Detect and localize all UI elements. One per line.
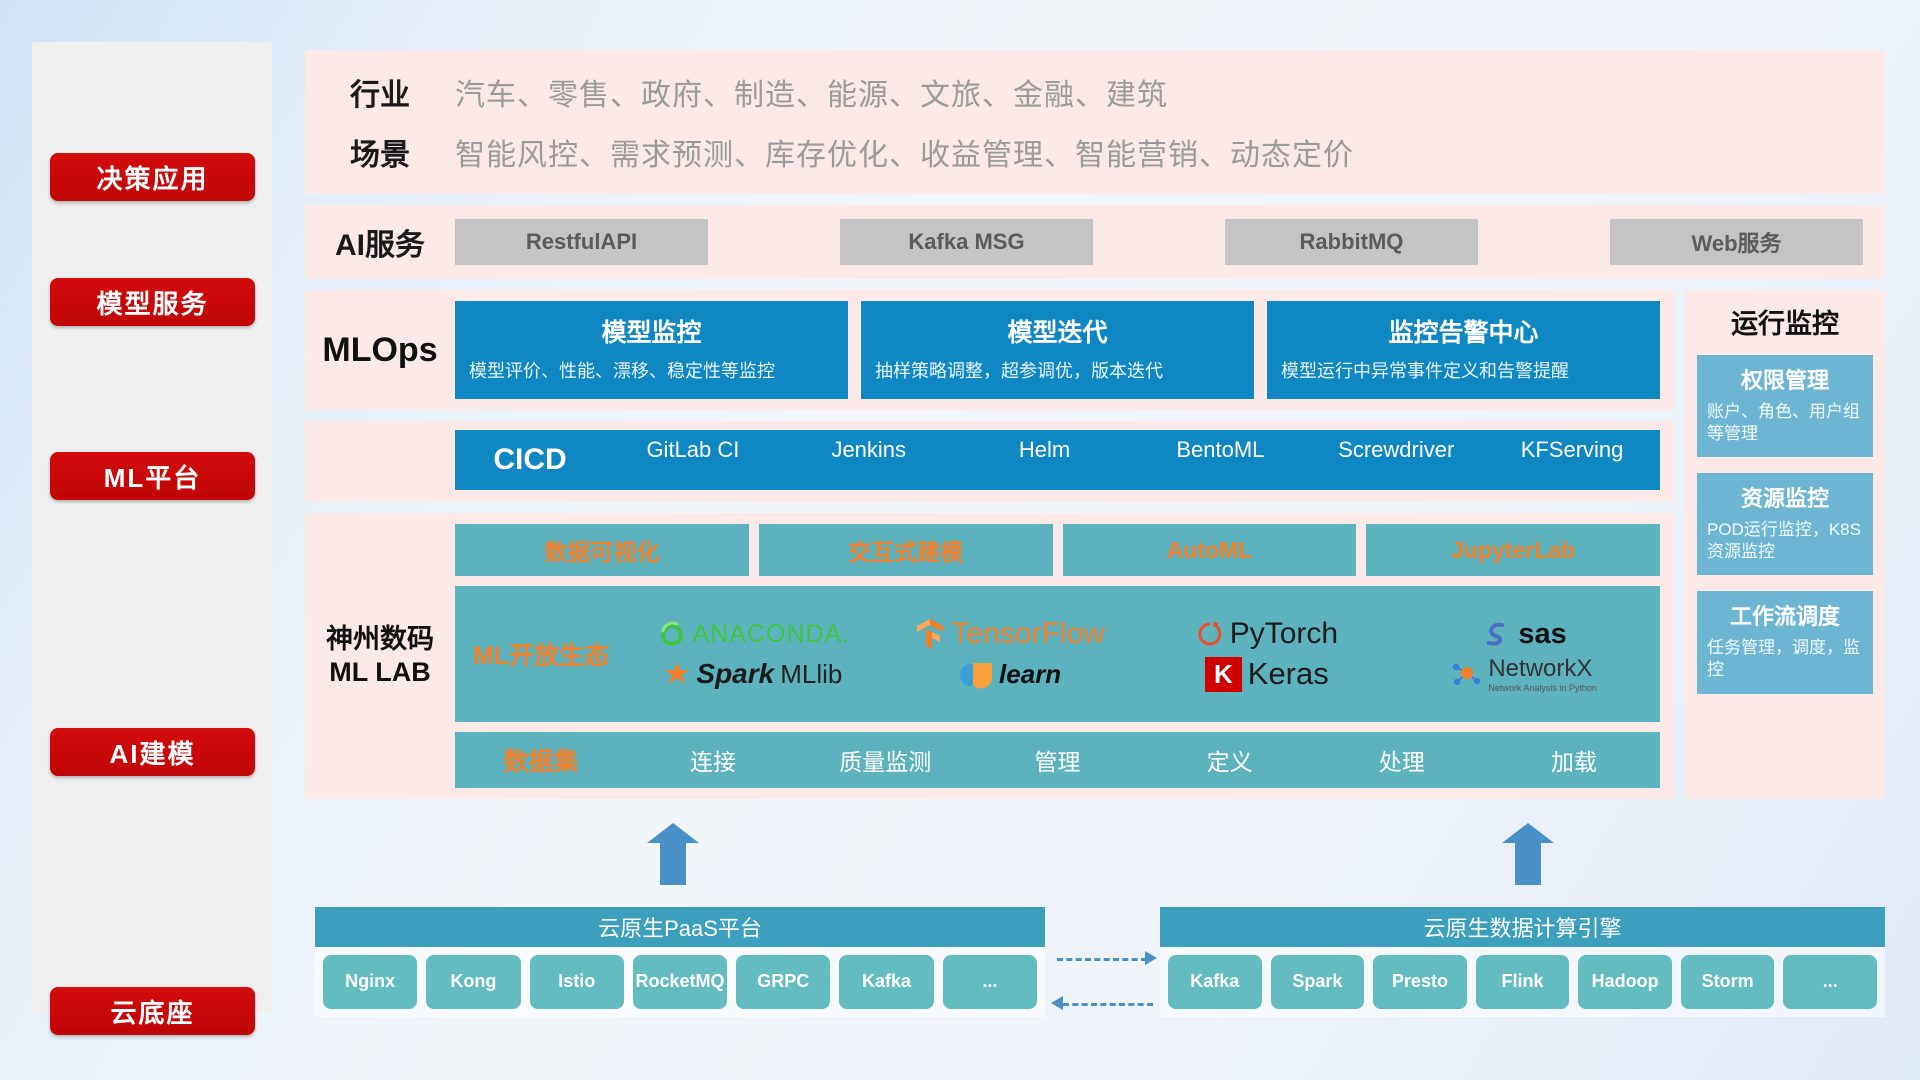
sas-logo: sas xyxy=(1480,618,1566,651)
networkx-logo: NetworkX Network Analysis in Python xyxy=(1450,655,1597,693)
industry-value: 汽车、零售、政府、制造、能源、文旅、金融、建筑 xyxy=(455,70,1168,114)
cicd-label: CICD xyxy=(455,443,605,477)
ml-lab-label-line2: ML LAB xyxy=(329,656,431,690)
card-title: 监控告警中心 xyxy=(1281,313,1646,349)
dashed-connector-back xyxy=(1063,1003,1153,1006)
logo-text: Spark xyxy=(696,658,774,690)
sas-mark xyxy=(1480,618,1512,650)
card-title: 资源监控 xyxy=(1707,481,1863,513)
cicd-item-gitlab-ci[interactable]: GitLab CI xyxy=(605,438,781,482)
dataset-item-process[interactable]: 处理 xyxy=(1316,743,1488,777)
rail-item-cloud-base[interactable]: 云底座 xyxy=(50,987,255,1035)
ml-lab-label: 神州数码 ML LAB xyxy=(305,524,455,788)
service-button-kafka-msg[interactable]: Kafka MSG xyxy=(840,219,1093,265)
logo-subtext: Network Analysis in Python xyxy=(1488,683,1597,693)
ml-lab-label-line1: 神州数码 xyxy=(326,623,434,657)
mlops-card-model-monitoring[interactable]: 模型监控 模型评价、性能、漂移、稳定性等监控 xyxy=(455,301,848,399)
cicd-item-helm[interactable]: Helm xyxy=(957,438,1133,482)
left-rail: 决策应用 模型服务 ML平台 AI建模 云底座 xyxy=(32,42,272,1014)
logo-text-wrap: NetworkX Network Analysis in Python xyxy=(1488,655,1597,693)
tab-jupyterlab[interactable]: JupyterLab xyxy=(1366,524,1660,576)
paas-pill-kafka[interactable]: Kafka xyxy=(839,955,933,1009)
logo-text: Keras xyxy=(1248,656,1329,692)
ml-ecosystem-label: ML开放生态 xyxy=(455,636,627,672)
cicd-band: CICD GitLab CI Jenkins Helm BentoML Scre… xyxy=(305,421,1674,502)
engine-pill-spark[interactable]: Spark xyxy=(1271,955,1365,1009)
keras-logo: K Keras xyxy=(1205,656,1329,692)
ml-lab-content: 数据可视化 交互式建模 AutoML JupyterLab ML开放生态 xyxy=(455,524,1674,788)
anaconda-mark xyxy=(657,619,687,649)
paas-pill-istio[interactable]: Istio xyxy=(530,955,624,1009)
rail-label: ML平台 xyxy=(104,458,202,495)
ml-ecosystem-row: ML开放生态 ANACONDA. xyxy=(455,586,1660,722)
logo-text: sas xyxy=(1518,618,1566,651)
scenario-value: 智能风控、需求预测、库存优化、收益管理、智能营销、动态定价 xyxy=(455,130,1354,174)
dashed-connector-forward xyxy=(1057,958,1147,961)
engine-pill-more[interactable]: ... xyxy=(1783,955,1877,1009)
dataset-item-load[interactable]: 加载 xyxy=(1488,743,1660,777)
cicd-item-screwdriver[interactable]: Screwdriver xyxy=(1308,438,1484,482)
cicd-strip: CICD GitLab CI Jenkins Helm BentoML Scre… xyxy=(455,430,1660,490)
mlops-card-alert-center[interactable]: 监控告警中心 模型运行中异常事件定义和告警提醒 xyxy=(1267,301,1660,399)
rail-item-model-service[interactable]: 模型服务 xyxy=(50,278,255,326)
engine-pill-presto[interactable]: Presto xyxy=(1373,955,1467,1009)
service-button-web[interactable]: Web服务 xyxy=(1610,219,1863,265)
keras-mark: K xyxy=(1205,657,1242,692)
card-title: 模型监控 xyxy=(469,313,834,349)
data-engine-stack-group: 云原生数据计算引擎 Kafka Spark Presto Flink Hadoo… xyxy=(1160,907,1885,1017)
card-desc: 模型运行中异常事件定义和告警提醒 xyxy=(1281,359,1646,383)
spark-mllib-logo: Spark MLlib xyxy=(664,658,842,690)
mlops-cards: 模型监控 模型评价、性能、漂移、稳定性等监控 模型迭代 抽样策略调整，超参调优，… xyxy=(455,301,1674,399)
runtime-monitor-panel: 运行监控 权限管理 账户、角色、用户组等管理 资源监控 POD运行监控，K8S资… xyxy=(1685,290,1885,799)
logo-text: PyTorch xyxy=(1230,617,1338,651)
mlops-column: MLOps 模型监控 模型评价、性能、漂移、稳定性等监控 模型迭代 抽样策略调整… xyxy=(305,290,1674,799)
spark-star-mark xyxy=(664,661,690,687)
diagram-canvas: 决策应用 模型服务 ML平台 AI建模 云底座 行业 汽车、零售、政府、制造、能… xyxy=(0,0,1920,1080)
rail-item-ai-modeling[interactable]: AI建模 xyxy=(50,728,255,776)
paas-title: 云原生PaaS平台 xyxy=(315,907,1045,947)
mlops-label: MLOps xyxy=(305,301,455,399)
dataset-row: 数据集 连接 质量监测 管理 定义 处理 加载 xyxy=(455,732,1660,788)
cloud-foundation-area: 云原生PaaS平台 Nginx Kong Istio RocketMQ GRPC… xyxy=(305,885,1885,1025)
main-column: 行业 汽车、零售、政府、制造、能源、文旅、金融、建筑 场景 智能风控、需求预测、… xyxy=(305,50,1885,810)
paas-pills: Nginx Kong Istio RocketMQ GRPC Kafka ... xyxy=(315,947,1045,1017)
dataset-item-manage[interactable]: 管理 xyxy=(971,743,1143,777)
mlops-card-model-iteration[interactable]: 模型迭代 抽样策略调整，超参调优，版本迭代 xyxy=(861,301,1254,399)
networkx-mark xyxy=(1450,659,1482,689)
dataset-item-connect[interactable]: 连接 xyxy=(627,743,799,777)
logo-text: ANACONDA. xyxy=(693,620,851,649)
logo-text: learn xyxy=(999,659,1061,690)
rail-label: 云底座 xyxy=(110,993,194,1030)
card-desc: POD运行监控，K8S资源监控 xyxy=(1707,519,1863,563)
rail-item-ml-platform[interactable]: ML平台 xyxy=(50,452,255,500)
industry-label: 行业 xyxy=(305,70,455,114)
pytorch-logo: PyTorch xyxy=(1196,617,1338,651)
scenario-label: 场景 xyxy=(305,130,455,174)
service-button-rabbitmq[interactable]: RabbitMQ xyxy=(1225,219,1478,265)
rail-item-decision-app[interactable]: 决策应用 xyxy=(50,153,255,201)
data-engine-pills: Kafka Spark Presto Flink Hadoop Storm ..… xyxy=(1160,947,1885,1017)
mlops-band: MLOps 模型监控 模型评价、性能、漂移、稳定性等监控 模型迭代 抽样策略调整… xyxy=(305,290,1674,410)
tensorflow-mark xyxy=(915,617,945,651)
dataset-item-define[interactable]: 定义 xyxy=(1144,743,1316,777)
ai-service-label: AI服务 xyxy=(305,220,455,264)
ml-lab-tabs: 数据可视化 交互式建模 AutoML JupyterLab xyxy=(455,524,1660,576)
paas-stack-group: 云原生PaaS平台 Nginx Kong Istio RocketMQ GRPC… xyxy=(315,907,1045,1017)
ai-service-buttons: RestfulAPI Kafka MSG RabbitMQ Web服务 xyxy=(455,219,1885,265)
card-title: 模型迭代 xyxy=(875,313,1240,349)
ecosystem-logos: ANACONDA. TensorFlow xyxy=(627,615,1660,693)
tab-data-visualization[interactable]: 数据可视化 xyxy=(455,524,749,576)
paas-pill-nginx[interactable]: Nginx xyxy=(323,955,417,1009)
monitor-card-permission[interactable]: 权限管理 账户、角色、用户组等管理 xyxy=(1697,355,1873,457)
mlops-monitor-wrap: MLOps 模型监控 模型评价、性能、漂移、稳定性等监控 模型迭代 抽样策略调整… xyxy=(305,290,1885,799)
rail-label: 模型服务 xyxy=(96,284,208,321)
rail-label: 决策应用 xyxy=(96,159,208,196)
up-arrow-left xyxy=(660,841,686,885)
industry-row: 行业 汽车、零售、政府、制造、能源、文旅、金融、建筑 xyxy=(305,70,1885,114)
pytorch-mark xyxy=(1196,618,1224,650)
card-desc: 账户、角色、用户组等管理 xyxy=(1707,401,1863,445)
monitor-card-resource[interactable]: 资源监控 POD运行监控，K8S资源监控 xyxy=(1697,473,1873,575)
card-desc: 模型评价、性能、漂移、稳定性等监控 xyxy=(469,359,834,383)
paas-pill-more[interactable]: ... xyxy=(943,955,1037,1009)
engine-pill-kafka[interactable]: Kafka xyxy=(1168,955,1262,1009)
logo-text-secondary: MLlib xyxy=(780,659,842,690)
engine-pill-hadoop[interactable]: Hadoop xyxy=(1578,955,1672,1009)
rail-label: AI建模 xyxy=(109,734,195,771)
tensorflow-logo: TensorFlow xyxy=(915,617,1104,651)
card-title: 工作流调度 xyxy=(1707,599,1863,631)
card-title: 权限管理 xyxy=(1707,363,1863,395)
paas-pill-rocketmq[interactable]: RocketMQ xyxy=(633,955,727,1009)
paas-pill-grpc[interactable]: GRPC xyxy=(736,955,830,1009)
tab-interactive-modeling[interactable]: 交互式建模 xyxy=(759,524,1053,576)
card-desc: 抽样策略调整，超参调优，版本迭代 xyxy=(875,359,1240,383)
engine-pill-flink[interactable]: Flink xyxy=(1476,955,1570,1009)
paas-pill-kong[interactable]: Kong xyxy=(426,955,520,1009)
dataset-label: 数据集 xyxy=(455,742,627,778)
anaconda-logo: ANACONDA. xyxy=(657,619,851,649)
cicd-item-bentoml[interactable]: BentoML xyxy=(1132,438,1308,482)
cicd-item-jenkins[interactable]: Jenkins xyxy=(781,438,957,482)
tab-automl[interactable]: AutoML xyxy=(1063,524,1357,576)
scenario-row: 场景 智能风控、需求预测、库存优化、收益管理、智能营销、动态定价 xyxy=(305,130,1885,174)
logo-text: TensorFlow xyxy=(951,617,1104,651)
logo-text: NetworkX xyxy=(1488,655,1592,682)
scikit-blob-mark xyxy=(959,659,993,689)
data-engine-title: 云原生数据计算引擎 xyxy=(1160,907,1885,947)
ai-service-band: AI服务 RestfulAPI Kafka MSG RabbitMQ Web服务 xyxy=(305,205,1885,279)
cicd-item-kfserving[interactable]: KFServing xyxy=(1484,438,1660,482)
card-desc: 任务管理，调度，监控 xyxy=(1707,637,1863,681)
up-arrow-right xyxy=(1515,841,1541,885)
monitor-title: 运行监控 xyxy=(1697,302,1873,341)
ml-lab-band: 神州数码 ML LAB 数据可视化 交互式建模 AutoML JupyterLa… xyxy=(305,513,1674,799)
monitor-card-workflow[interactable]: 工作流调度 任务管理，调度，监控 xyxy=(1697,591,1873,693)
service-button-restfulapi[interactable]: RestfulAPI xyxy=(455,219,708,265)
arrow-head-left xyxy=(1051,996,1063,1010)
engine-pill-storm[interactable]: Storm xyxy=(1681,955,1775,1009)
scikit-learn-logo: learn xyxy=(959,659,1061,690)
industry-scenario-band: 行业 汽车、零售、政府、制造、能源、文旅、金融、建筑 场景 智能风控、需求预测、… xyxy=(305,50,1885,194)
arrow-head-right xyxy=(1145,951,1157,965)
dataset-item-quality[interactable]: 质量监测 xyxy=(799,743,971,777)
